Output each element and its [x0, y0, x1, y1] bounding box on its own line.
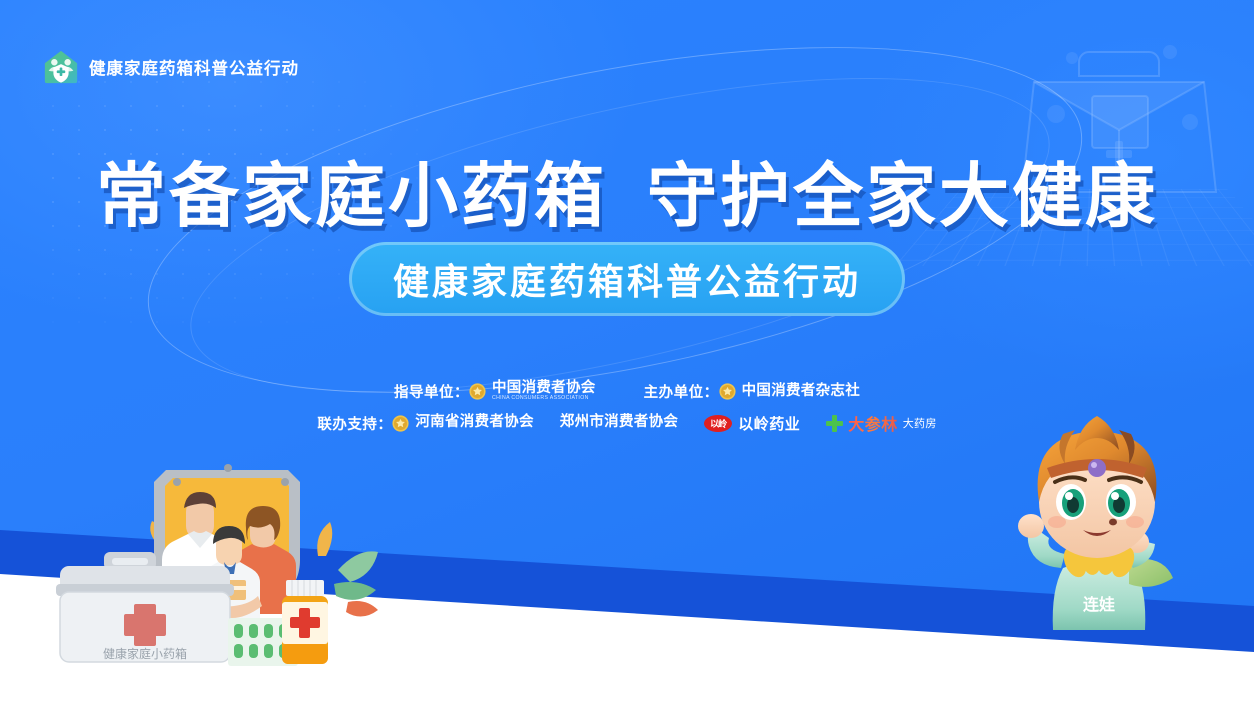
headline-part2: 守护全家大健康	[647, 157, 1158, 235]
kit-label: 健康家庭小药箱	[103, 646, 187, 661]
host-unit-name: 中国消费者杂志社	[742, 384, 860, 399]
host-unit-label: 主办单位：	[644, 381, 719, 402]
medicine-kit-illustration: 健康家庭小药箱	[38, 452, 388, 677]
headline-part1: 常备家庭小药箱	[96, 157, 607, 235]
mascot-beauty-mark	[1109, 519, 1117, 526]
guidance-unit: 中国消费者协会 CHINA CONSUMERS ASSOCIATION	[469, 381, 596, 402]
mascot-name-badge: 连娃	[1083, 595, 1115, 614]
first-aid-box: 健康家庭小药箱	[56, 552, 234, 662]
sponsor-yiling-name: 以岭药业	[738, 413, 800, 434]
cosupport-unit-henan: 河南省消费者协会	[392, 415, 533, 432]
guidance-unit-name-cn: 中国消费者协会	[492, 380, 596, 396]
cosupport-unit-henan-name: 河南省消费者协会	[415, 415, 533, 430]
mascot-gem-icon	[1088, 459, 1106, 477]
henan-cca-emblem-icon	[392, 415, 409, 432]
poster-canvas: 健康家庭药箱科普公益行动 常备家庭小药箱守护全家大健康 健康家庭药箱科普公益行动…	[0, 0, 1254, 705]
cca-emblem-icon	[469, 383, 486, 400]
page-title: 常备家庭小药箱守护全家大健康	[0, 140, 1254, 241]
guidance-unit-label: 指导单位：	[394, 381, 469, 402]
yiling-mark-icon: 以岭	[704, 415, 732, 432]
subtitle-pill: 健康家庭药箱科普公益行动	[349, 242, 905, 316]
guidance-unit-name-en: CHINA CONSUMERS ASSOCIATION	[492, 396, 596, 401]
cosupport-unit-zhengzhou-name: 郑州市消费者协会	[560, 415, 678, 430]
host-unit: 中国消费者杂志社	[719, 383, 860, 400]
guidance-unit-name: 中国消费者协会 CHINA CONSUMERS ASSOCIATION	[492, 381, 596, 402]
credits-row-1: 指导单位： 中国消费者协会 CHINA CONSUMERS ASSOCIATIO…	[0, 381, 1254, 402]
house-health-logo-icon	[42, 48, 80, 86]
sponsor-dashenlin-logo: 大参林 大药房	[826, 411, 936, 435]
green-cross-icon	[826, 415, 843, 432]
ccm-emblem-icon	[719, 383, 736, 400]
medicine-bottle	[282, 580, 328, 664]
sponsor-dashenlin-name: 大参林	[848, 411, 898, 435]
mascot-lianwa: 连娃	[997, 410, 1202, 645]
sponsor-dashenlin-sub: 大药房	[903, 415, 937, 431]
brand-title: 健康家庭药箱科普公益行动	[89, 55, 299, 79]
sponsor-yiling-logo: 以岭 以岭药业	[704, 413, 800, 434]
brand-bar: 健康家庭药箱科普公益行动	[42, 48, 299, 86]
cosupport-label: 联办支持：	[317, 413, 392, 434]
mascot-left-fist	[1018, 514, 1044, 538]
